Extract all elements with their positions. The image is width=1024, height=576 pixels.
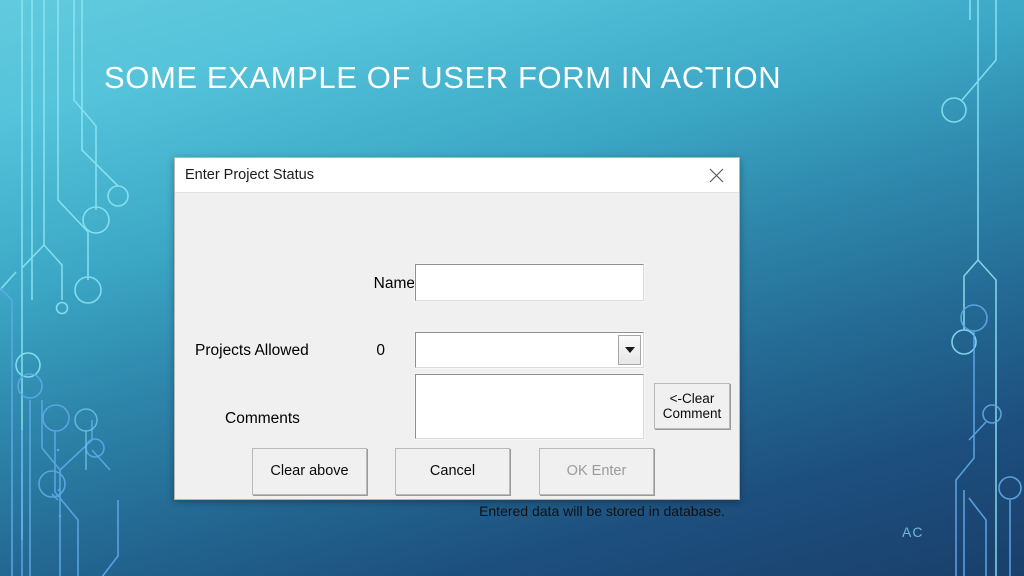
comments-textarea[interactable]	[415, 374, 644, 439]
chevron-down-icon[interactable]	[618, 335, 641, 365]
dialog-body: Name Projects Allowed 0 Comments <-Clear…	[175, 193, 739, 500]
projects-allowed-label: Projects Allowed	[195, 342, 365, 360]
projects-allowed-combobox[interactable]	[415, 332, 644, 368]
comments-label: Comments	[225, 410, 385, 428]
name-input[interactable]	[415, 264, 644, 301]
close-icon[interactable]	[695, 158, 737, 192]
name-label: Name	[305, 275, 415, 293]
projects-allowed-count: 0	[355, 342, 385, 360]
clear-above-button[interactable]: Clear above	[252, 448, 367, 495]
clear-comment-button[interactable]: <-Clear Comment	[654, 383, 730, 429]
chevron-down-glyph	[625, 347, 635, 353]
project-status-dialog: Enter Project Status Name Projects Allow…	[174, 157, 740, 500]
footer-logo: AC	[902, 524, 923, 540]
circuit-decoration-right	[914, 0, 1024, 576]
dialog-title: Enter Project Status	[185, 167, 314, 183]
page-title: SOME EXAMPLE OF USER FORM IN ACTION	[104, 60, 924, 96]
cancel-button[interactable]: Cancel	[395, 448, 510, 495]
dialog-titlebar[interactable]: Enter Project Status	[175, 158, 739, 193]
presentation-slide: SOME EXAMPLE OF USER FORM IN ACTION AC E…	[0, 0, 1024, 576]
clear-comment-line-2: Comment	[663, 406, 722, 421]
clear-comment-line-1: <-Clear	[670, 391, 715, 406]
ok-enter-button: OK Enter	[539, 448, 654, 495]
status-note: Entered data will be stored in database.	[425, 503, 725, 519]
